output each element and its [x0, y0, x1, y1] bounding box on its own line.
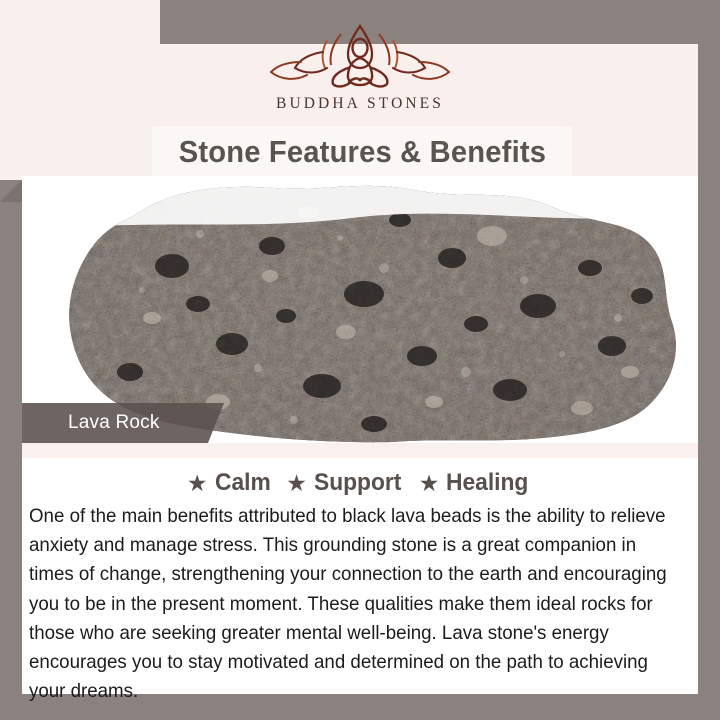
- brand-name: BUDDHA STONES: [276, 95, 444, 113]
- photo-caption-band: Lava Rock: [22, 403, 208, 443]
- benefit-item-calm: ★ Calm: [187, 469, 273, 497]
- description-paragraph: One of the main benefits attributed to b…: [29, 502, 681, 706]
- star-icon: ★: [187, 472, 208, 495]
- benefits-row: ★ Calm ★ Support ★ Healing: [22, 466, 698, 500]
- lotus-meditation-icon: [265, 18, 455, 92]
- divider-pink-strip: [22, 443, 698, 458]
- photo-caption-text: Lava Rock: [22, 412, 160, 434]
- photo-caption-bevel: [208, 403, 224, 443]
- star-icon: ★: [419, 472, 440, 495]
- benefit-item-support: ★ Support: [286, 469, 406, 497]
- title-banner: Stone Features & Benefits: [152, 126, 572, 178]
- benefit-item-healing: ★ Healing: [419, 469, 533, 497]
- benefit-label: Support: [314, 469, 401, 497]
- poster-root: BUDDHA STONES Stone Features & Benefits: [0, 0, 720, 720]
- page-title: Stone Features & Benefits: [178, 134, 545, 170]
- frame-bevel-top-left: [0, 180, 22, 202]
- frame-left-bar: [0, 180, 22, 720]
- star-icon: ★: [286, 472, 307, 495]
- brand-logo: BUDDHA STONES: [0, 18, 720, 128]
- benefit-label: Calm: [215, 469, 271, 497]
- benefit-label: Healing: [446, 469, 528, 497]
